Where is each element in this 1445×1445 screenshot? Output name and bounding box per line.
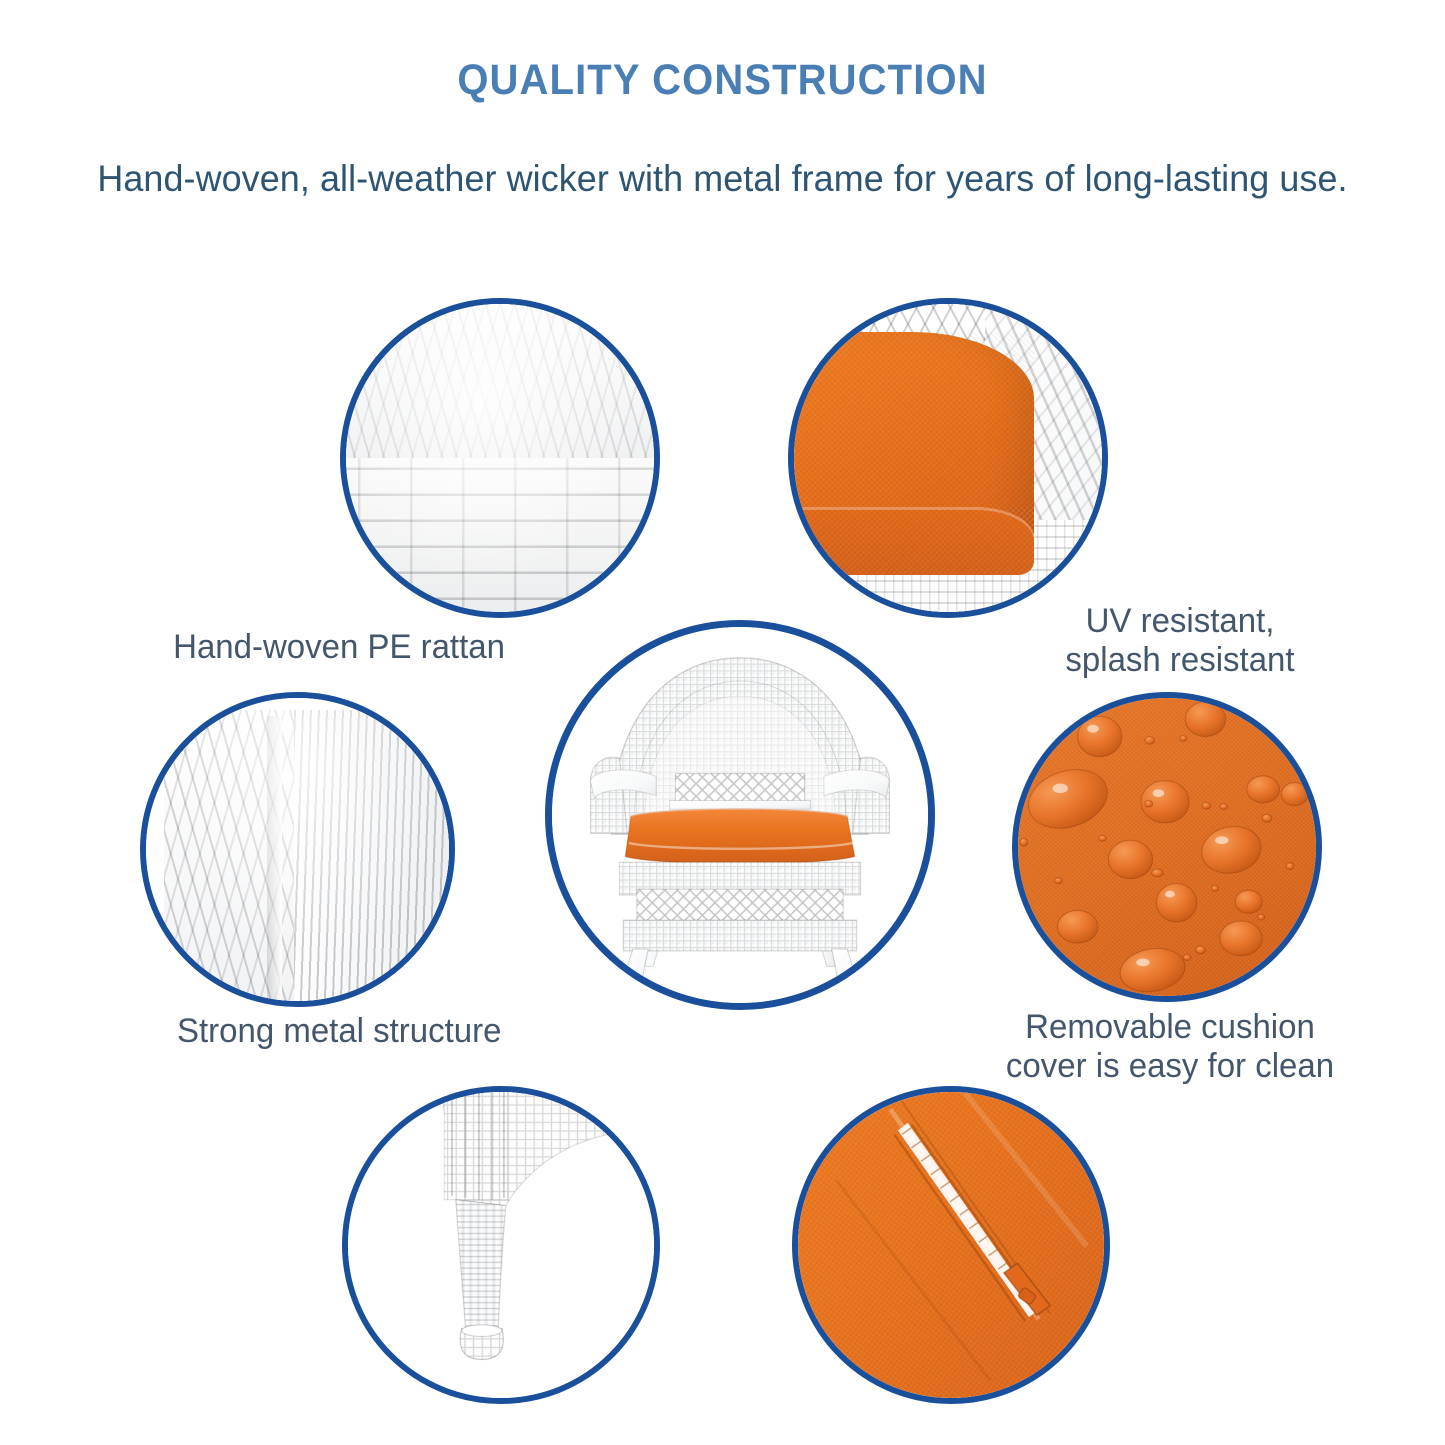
infographic-canvas: QUALITY CONSTRUCTION Hand-woven, all-wea… xyxy=(0,0,1445,1445)
cushion-zipper-photo xyxy=(798,1092,1104,1398)
feature-image-uv-splash-resistant xyxy=(788,298,1108,618)
caption-uv-splash-resistant: UV resistant, splash resistant xyxy=(1035,602,1326,681)
water-beading-fabric-photo xyxy=(1018,698,1316,996)
cushion-in-wicker-photo xyxy=(794,304,1102,612)
zipper-icon xyxy=(798,1092,1104,1398)
wicker-arm-corner-photo xyxy=(146,698,449,1001)
feature-image-chair-leg-detail xyxy=(342,1086,660,1404)
white-wicker-armchair-photo xyxy=(552,627,928,1003)
wicker-leg-illustration xyxy=(348,1092,654,1398)
feature-image-removable-cushion-cover xyxy=(1012,692,1322,1002)
armchair-illustration xyxy=(552,627,928,1003)
chair-leg-photo xyxy=(348,1092,654,1398)
page-subtitle: Hand-woven, all-weather wicker with meta… xyxy=(22,158,1424,200)
water-droplets-icon xyxy=(1018,698,1316,996)
page-title: QUALITY CONSTRUCTION xyxy=(51,56,1395,105)
caption-removable-cushion-cover: Removable cushion cover is easy for clea… xyxy=(995,1008,1344,1087)
wicker-weave-texture xyxy=(346,304,654,612)
caption-hand-woven-pe-rattan: Hand-woven PE rattan xyxy=(173,628,505,667)
caption-strong-metal-structure: Strong metal structure xyxy=(177,1012,501,1051)
feature-image-hand-woven-pe-rattan xyxy=(340,298,660,618)
feature-image-cushion-zipper xyxy=(792,1086,1110,1404)
feature-image-strong-metal-structure xyxy=(140,692,455,1007)
feature-image-full-product xyxy=(545,620,935,1010)
